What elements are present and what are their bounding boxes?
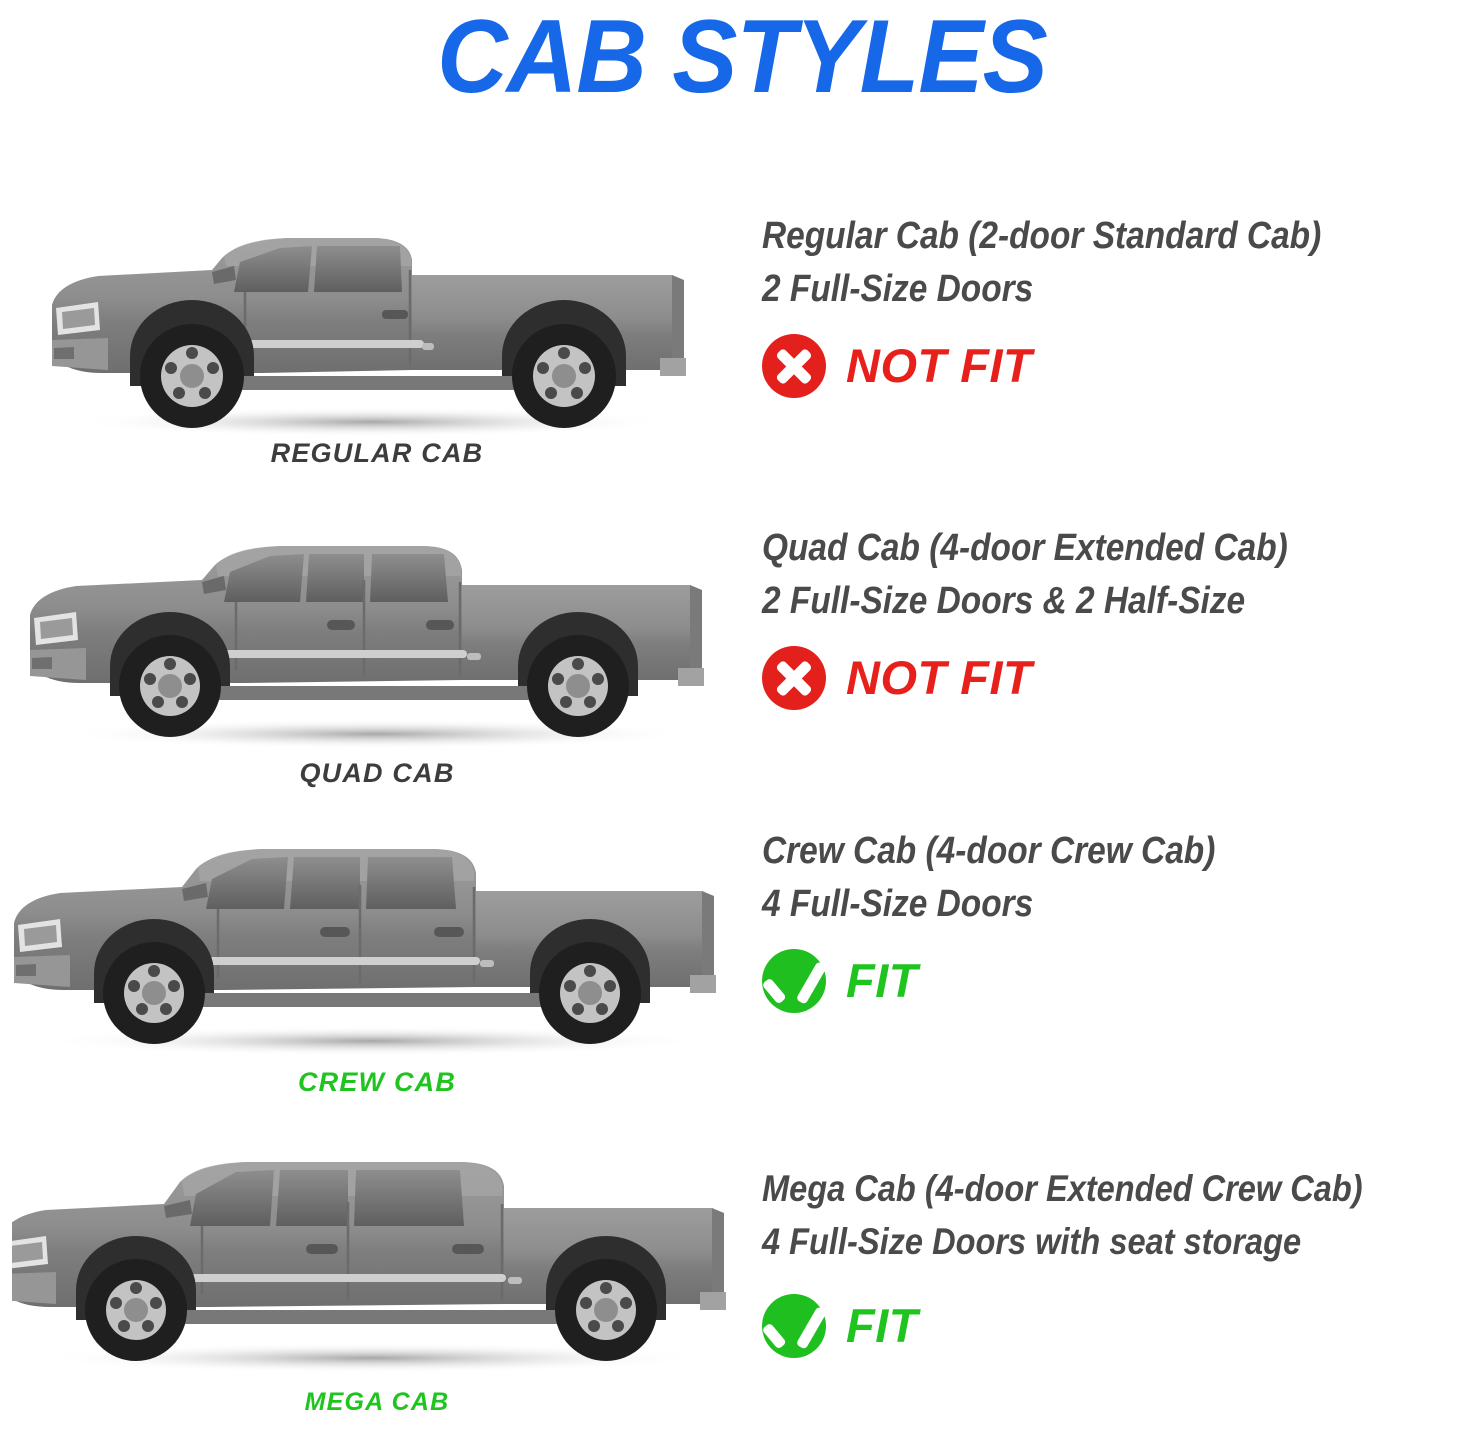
cab-detail: 2 Full-Size Doors: [762, 263, 1392, 316]
verdict-row: NOT FIT: [762, 646, 1478, 710]
cab-label: QUAD CAB: [12, 758, 742, 789]
x-circle-icon: [762, 334, 826, 398]
check-circle-icon: [762, 1294, 826, 1358]
verdict-row: NOT FIT: [762, 334, 1478, 398]
cab-info: Crew Cab (4-door Crew Cab) 4 Full-Size D…: [762, 825, 1478, 1013]
cab-label: REGULAR CAB: [12, 438, 742, 469]
x-circle-icon: [762, 646, 826, 710]
cab-row-crew: CREW CAB Crew Cab (4-door Crew Cab) 4 Fu…: [0, 795, 1484, 1105]
verdict-label: FIT: [846, 956, 918, 1006]
truck-mega-cab-image: [12, 1110, 742, 1375]
check-circle-icon: [762, 949, 826, 1013]
cab-row-regular: REGULAR CAB Regular Cab (2-door Standard…: [0, 180, 1484, 490]
truck-crew-cab-image: [12, 795, 742, 1060]
truck-cell: QUAD CAB: [12, 490, 742, 800]
page-title: CAB STYLES: [45, 2, 1440, 112]
cab-label: CREW CAB: [12, 1067, 742, 1098]
verdict-label: FIT: [846, 1301, 918, 1351]
verdict-label: NOT FIT: [846, 653, 1032, 703]
cab-row-mega: MEGA CAB Mega Cab (4-door Extended Crew …: [0, 1110, 1484, 1420]
truck-cell: REGULAR CAB: [12, 180, 742, 490]
cab-label: MEGA CAB: [12, 1388, 742, 1417]
cab-info: Quad Cab (4-door Extended Cab) 2 Full-Si…: [762, 522, 1478, 710]
verdict-label: NOT FIT: [846, 341, 1032, 391]
cab-info: Regular Cab (2-door Standard Cab) 2 Full…: [762, 210, 1478, 398]
cab-heading: Mega Cab (4-door Extended Crew Cab): [762, 1162, 1392, 1215]
verdict-row: FIT: [762, 1294, 1478, 1358]
cab-info: Mega Cab (4-door Extended Crew Cab) 4 Fu…: [762, 1162, 1478, 1358]
cab-styles-infographic: CAB STYLES: [0, 0, 1484, 1430]
cab-detail: 4 Full-Size Doors with seat storage: [762, 1215, 1392, 1268]
truck-cell: CREW CAB: [12, 795, 742, 1105]
truck-quad-cab-image: [12, 490, 742, 755]
truck-cell: MEGA CAB: [12, 1110, 742, 1420]
cab-heading: Regular Cab (2-door Standard Cab): [762, 210, 1392, 263]
cab-detail: 2 Full-Size Doors & 2 Half-Size: [762, 575, 1392, 628]
verdict-row: FIT: [762, 949, 1478, 1013]
cab-detail: 4 Full-Size Doors: [762, 878, 1392, 931]
cab-heading: Quad Cab (4-door Extended Cab): [762, 522, 1392, 575]
cab-heading: Crew Cab (4-door Crew Cab): [762, 825, 1392, 878]
truck-regular-cab-image: [12, 180, 742, 445]
cab-row-quad: QUAD CAB Quad Cab (4-door Extended Cab) …: [0, 490, 1484, 800]
